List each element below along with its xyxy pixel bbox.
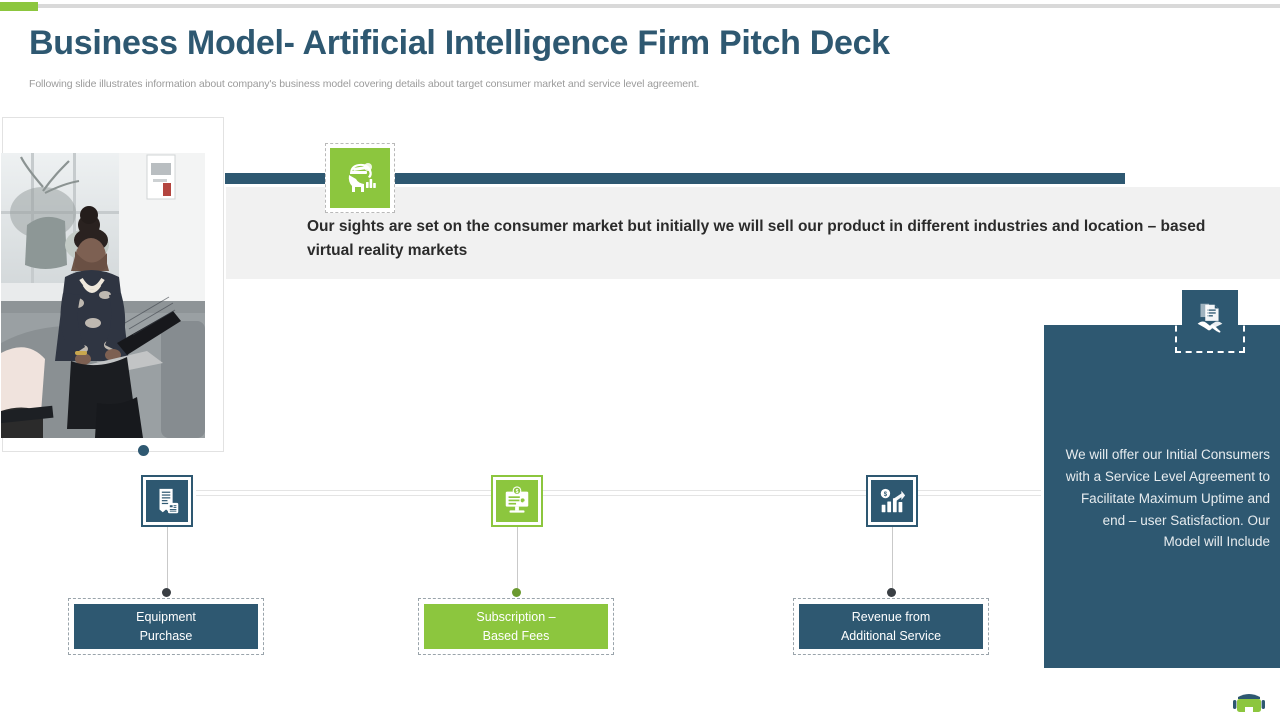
node-stem-subscription: [517, 527, 518, 594]
hero-bar-right: [388, 173, 1125, 184]
contract-handshake-icon: [1182, 290, 1238, 346]
header-accent-mark: [0, 2, 38, 11]
sla-badge: [1175, 283, 1245, 353]
node-badge-subscription: $: [491, 475, 543, 527]
brand-logo-mark: [1232, 690, 1266, 719]
node-badge-revenue: $: [866, 475, 918, 527]
hero-bar-left: [225, 173, 335, 184]
hero-badge: [325, 143, 395, 213]
photo-card: [2, 117, 224, 452]
header-rule: [0, 4, 1280, 8]
node-stem-dot-subscription: [512, 588, 521, 597]
sla-panel-text: We will offer our Initial Consumers with…: [1064, 444, 1270, 553]
node-label-wrap-revenue: Revenue from Additional Service: [793, 598, 989, 655]
node-stem-revenue: [892, 527, 893, 594]
photo-connector-dot: [138, 445, 149, 456]
node-label-subscription[interactable]: Subscription – Based Fees: [424, 604, 608, 649]
photo-illustration: [1, 153, 205, 438]
node-label-wrap-equipment: Equipment Purchase: [68, 598, 264, 655]
node-stem-dot-equipment: [162, 588, 171, 597]
revenue-growth-chart-icon: $: [871, 480, 913, 522]
ai-brain-vr-icon: [330, 148, 390, 208]
page-title: Business Model- Artificial Intelligence …: [29, 24, 890, 63]
node-label-equipment[interactable]: Equipment Purchase: [74, 604, 258, 649]
hero-text: Our sights are set on the consumer marke…: [307, 215, 1227, 263]
node-label-revenue[interactable]: Revenue from Additional Service: [799, 604, 983, 649]
invoice-document-icon: [146, 480, 188, 522]
svg-text:$: $: [516, 489, 519, 495]
node-badge-equipment: [141, 475, 193, 527]
photo-image: [1, 153, 205, 438]
subscription-monitor-icon: $: [496, 480, 538, 522]
slide-root: Business Model- Artificial Intelligence …: [0, 0, 1280, 720]
node-stem-equipment: [167, 527, 168, 594]
node-stem-dot-revenue: [887, 588, 896, 597]
page-subtitle: Following slide illustrates information …: [29, 78, 699, 90]
node-label-wrap-subscription: Subscription – Based Fees: [418, 598, 614, 655]
